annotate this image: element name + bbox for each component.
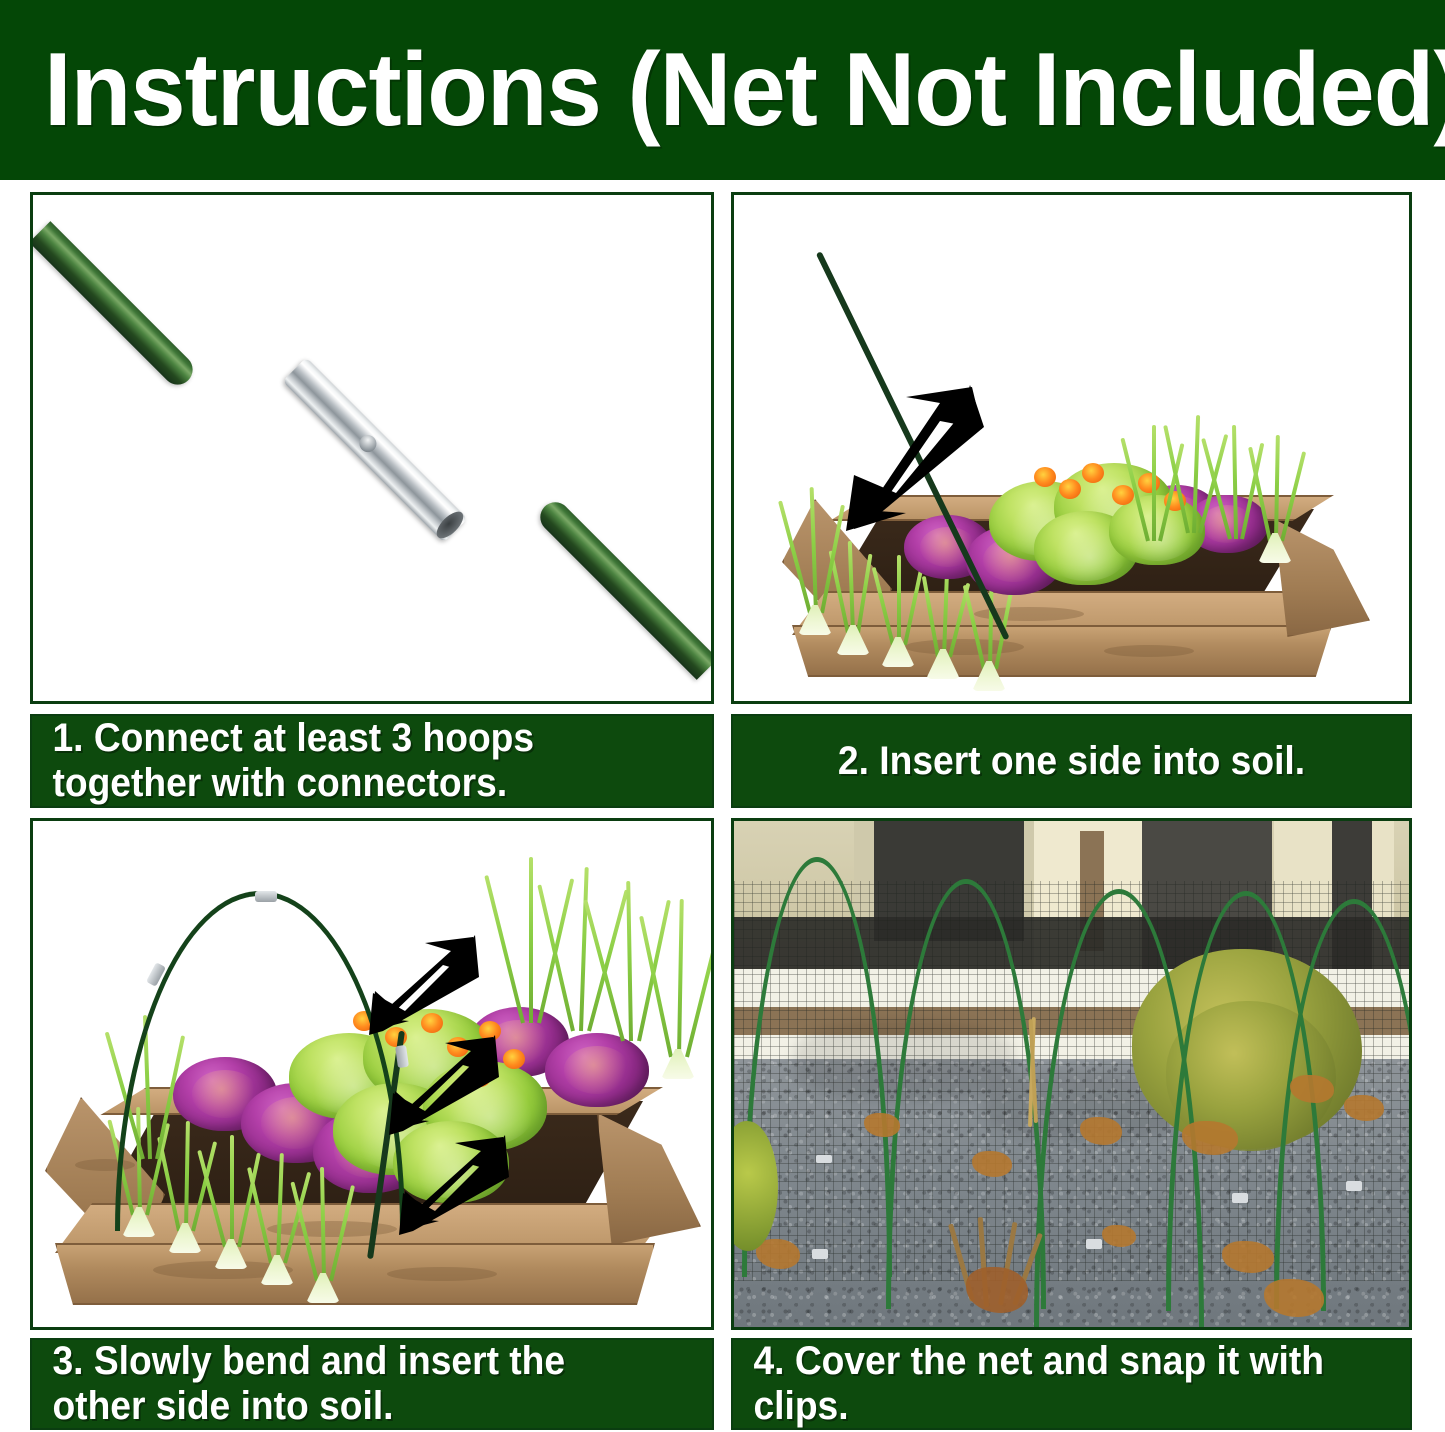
- bend-arrow-1-icon: [369, 931, 479, 1041]
- step-1-illustration: [30, 192, 714, 704]
- fiberglass-pole-upper-icon: [30, 221, 199, 391]
- step-2-caption-text: 2. Insert one side into soil.: [757, 739, 1387, 784]
- orange-marigold: [1082, 463, 1104, 483]
- bend-arrow-3-icon: [399, 1131, 509, 1241]
- hoop-connector-icon: [255, 891, 277, 902]
- onion-bulb: [881, 637, 915, 667]
- page-title: Instructions (Net Not Included): [44, 38, 1445, 142]
- instruction-infographic: Instructions (Net Not Included) 1. Conne…: [0, 0, 1445, 1432]
- step-2-caption-box: 2. Insert one side into soil.: [731, 714, 1412, 808]
- onion-plant: [1256, 443, 1294, 563]
- onion-plant: [559, 873, 601, 1053]
- step-3-caption-box: 3. Slowly bend and insert the other side…: [30, 1338, 714, 1430]
- insert-arrow-icon: [844, 383, 984, 533]
- bed-right-end: [597, 1113, 701, 1245]
- wood-grain: [387, 1267, 497, 1281]
- snap-clip-icon: [1086, 1239, 1102, 1249]
- orange-marigold: [1112, 485, 1134, 505]
- onion-bulb: [214, 1239, 248, 1269]
- bend-arrow-2-icon: [389, 1031, 499, 1141]
- step-4-caption-box: 4. Cover the net and snap it with clips.: [731, 1338, 1412, 1430]
- onion-plant: [1134, 433, 1172, 563]
- snap-clip-icon: [1232, 1193, 1248, 1203]
- snap-clip-icon: [816, 1155, 832, 1163]
- step-1-caption-box: 1. Connect at least 3 hoops together wit…: [30, 714, 714, 808]
- onion-bulb: [306, 1273, 340, 1303]
- onion-bulb: [972, 661, 1006, 691]
- onion-bulb: [926, 649, 960, 679]
- onion-bulb: [1258, 533, 1292, 563]
- bed-front-face: [792, 625, 1332, 677]
- onion-plant: [879, 557, 917, 667]
- onion-plant: [834, 545, 872, 655]
- onion-bulb: [798, 605, 832, 635]
- fiberglass-pole-lower-icon: [534, 496, 714, 680]
- snap-clip-icon: [812, 1249, 828, 1259]
- onion-plant: [509, 865, 551, 1045]
- garden-bed-scene-step3: [33, 821, 711, 1327]
- orange-marigold: [503, 1049, 525, 1069]
- wood-grain: [1104, 645, 1194, 657]
- bed-front-face: [55, 1243, 655, 1305]
- step-3-illustration: [30, 818, 714, 1330]
- step-4-caption-text: 4. Cover the net and snap it with clips.: [733, 1339, 1363, 1429]
- orange-marigold: [1059, 479, 1081, 499]
- garden-bed-scene-step2: [734, 195, 1409, 701]
- step-4-illustration: [731, 818, 1412, 1330]
- onion-bulb: [836, 625, 870, 655]
- step-3-caption-text: 3. Slowly bend and insert the other side…: [32, 1339, 664, 1429]
- installed-hoops-photo: [734, 821, 1409, 1327]
- orange-marigold: [1034, 467, 1056, 487]
- step-1-caption-text: 1. Connect at least 3 hoops together wit…: [32, 716, 664, 806]
- onion-bulb: [260, 1255, 294, 1285]
- onion-plant: [796, 495, 834, 635]
- onion-plant: [657, 899, 699, 1079]
- step-2-illustration: [731, 192, 1412, 704]
- snap-clip-icon: [1346, 1181, 1362, 1191]
- header-banner: Instructions (Net Not Included): [0, 0, 1445, 180]
- onion-plant: [924, 569, 962, 679]
- connector-screw-icon: [356, 432, 380, 456]
- onion-plant: [609, 883, 651, 1063]
- metal-connector-tube-icon: [282, 357, 467, 542]
- bent-hoop-arch-icon: [115, 891, 405, 1231]
